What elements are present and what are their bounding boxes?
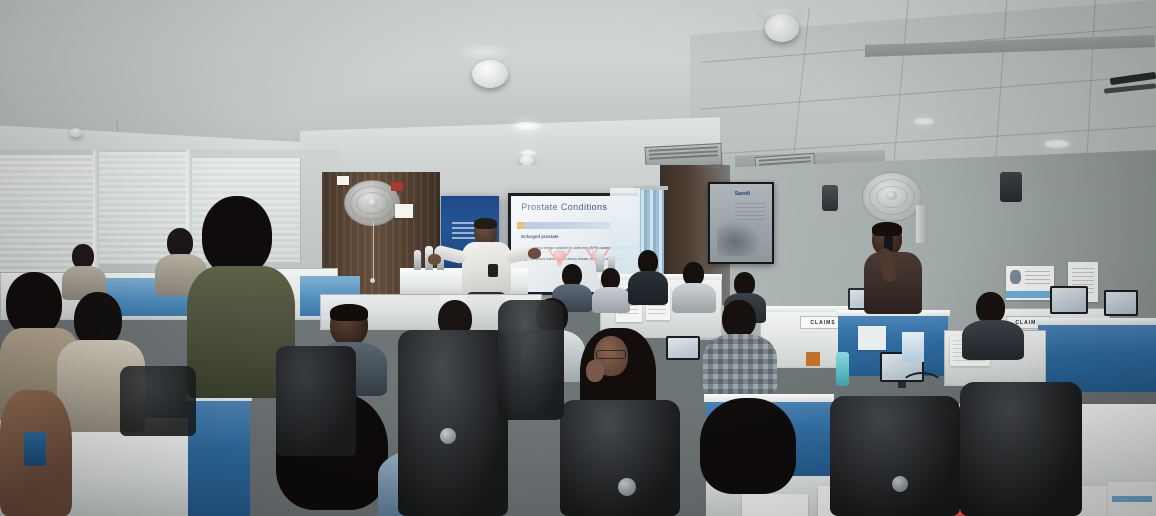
audience-member [962,292,1024,358]
photo-scene: Sanofi Prostate Conditions Enlarged pros… [0,0,1156,516]
monitor [666,336,700,360]
exit-sign [391,182,403,191]
office-chair [830,396,960,516]
person-on-phone [862,222,924,322]
wall-speaker [822,185,838,211]
pillar-notice [395,204,413,218]
poster-blue-small [902,332,924,362]
office-chair [120,366,196,436]
monitor [1050,286,1088,314]
glasses-icon [596,350,626,359]
chair-adjust-knob[interactable] [618,478,636,496]
office-chair [398,330,508,516]
poster-title: Sanofi [735,191,750,197]
recessed-ceiling-light [1044,140,1070,148]
smoke-detector-icon [472,60,508,88]
wall-speaker [1000,172,1022,202]
audience-member-foreground [690,398,810,516]
wall-fan-icon [862,172,922,222]
presenter-hand-left [428,254,441,265]
audience-member [592,268,630,312]
audience-member [628,250,668,306]
monitor [1104,290,1138,316]
trophy-icon [414,250,421,270]
mobile-phone-icon[interactable] [24,432,46,466]
pillar-notice [337,176,349,185]
desk-document [1108,482,1156,516]
audience-member [702,300,778,396]
presenter-hair [474,218,497,229]
recessed-ceiling-light [520,150,536,156]
fan-pull-chain[interactable] [373,222,374,280]
presenter-hand-right [528,248,541,259]
cubicle-card-orange [806,352,820,366]
smoke-detector-icon [765,14,799,42]
woman-hand [586,360,604,382]
office-chair [960,382,1082,516]
phone-user-hair [872,222,902,236]
presenter-torso [462,242,511,294]
office-chair [498,300,564,420]
water-bottle [836,352,849,386]
smoke-detector-icon [70,128,82,137]
poster-illustration [717,221,760,255]
fan-chain-bead [370,278,375,283]
office-chair [560,400,680,516]
office-chair [276,346,356,456]
pinned-document [858,326,886,350]
wall-poster-frame: Sanofi [708,182,774,264]
cubicle-panel-blue [188,398,250,516]
cubicle-cap [1036,318,1156,325]
chair-adjust-knob[interactable] [892,476,908,492]
poster-text-lines [735,203,765,220]
cubicle-sign-subtext: .................. [796,330,815,334]
chair-adjust-knob[interactable] [440,428,456,444]
smoke-detector-base [452,44,516,62]
recessed-ceiling-light [914,118,934,125]
recessed-ceiling-light [512,122,542,131]
presenter-badge [488,264,498,277]
wall-poster: Sanofi [710,184,772,262]
